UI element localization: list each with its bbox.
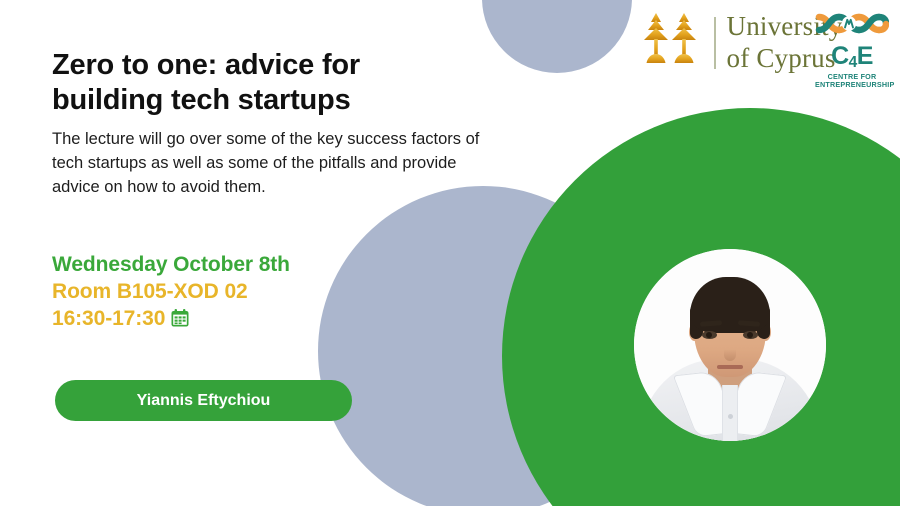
- university-logo: University of Cyprus: [641, 11, 843, 74]
- calendar-icon: [170, 308, 190, 336]
- logo-divider: [714, 17, 716, 69]
- event-poster: Zero to one: advice for building tech st…: [0, 0, 900, 506]
- two-trees-icon: [641, 11, 703, 74]
- speaker-portrait: [634, 249, 826, 441]
- speaker-portrait-image: [634, 249, 826, 441]
- centre-acronym-e: E: [857, 42, 873, 70]
- centre-acronym-4: 4: [849, 54, 857, 71]
- centre-tagline-line2: ENTREPRENEURSHIP: [815, 81, 889, 89]
- event-room: Room B105-XOD 02: [52, 279, 290, 306]
- speaker-name: Yiannis Eftychiou: [137, 392, 271, 410]
- event-details: Wednesday October 8th Room B105-XOD 02 1…: [52, 252, 290, 336]
- centre-logo: C4E CENTRE FOR ENTREPRENEURSHIP: [815, 8, 889, 90]
- event-description: The lecture will go over some of the key…: [52, 128, 508, 200]
- centre-tagline: CENTRE FOR ENTREPRENEURSHIP: [815, 73, 889, 90]
- event-date: Wednesday October 8th: [52, 252, 290, 279]
- dna-ribbon-icon: [815, 8, 889, 43]
- speaker-name-pill: Yiannis Eftychiou: [55, 380, 352, 421]
- centre-acronym: C4E: [815, 44, 889, 71]
- page-title: Zero to one: advice for building tech st…: [52, 48, 472, 118]
- decorative-circle-top: [482, 0, 632, 73]
- centre-acronym-c: C: [831, 42, 849, 70]
- event-time: 16:30-17:30: [52, 307, 165, 330]
- event-time-row: 16:30-17:30: [52, 306, 290, 336]
